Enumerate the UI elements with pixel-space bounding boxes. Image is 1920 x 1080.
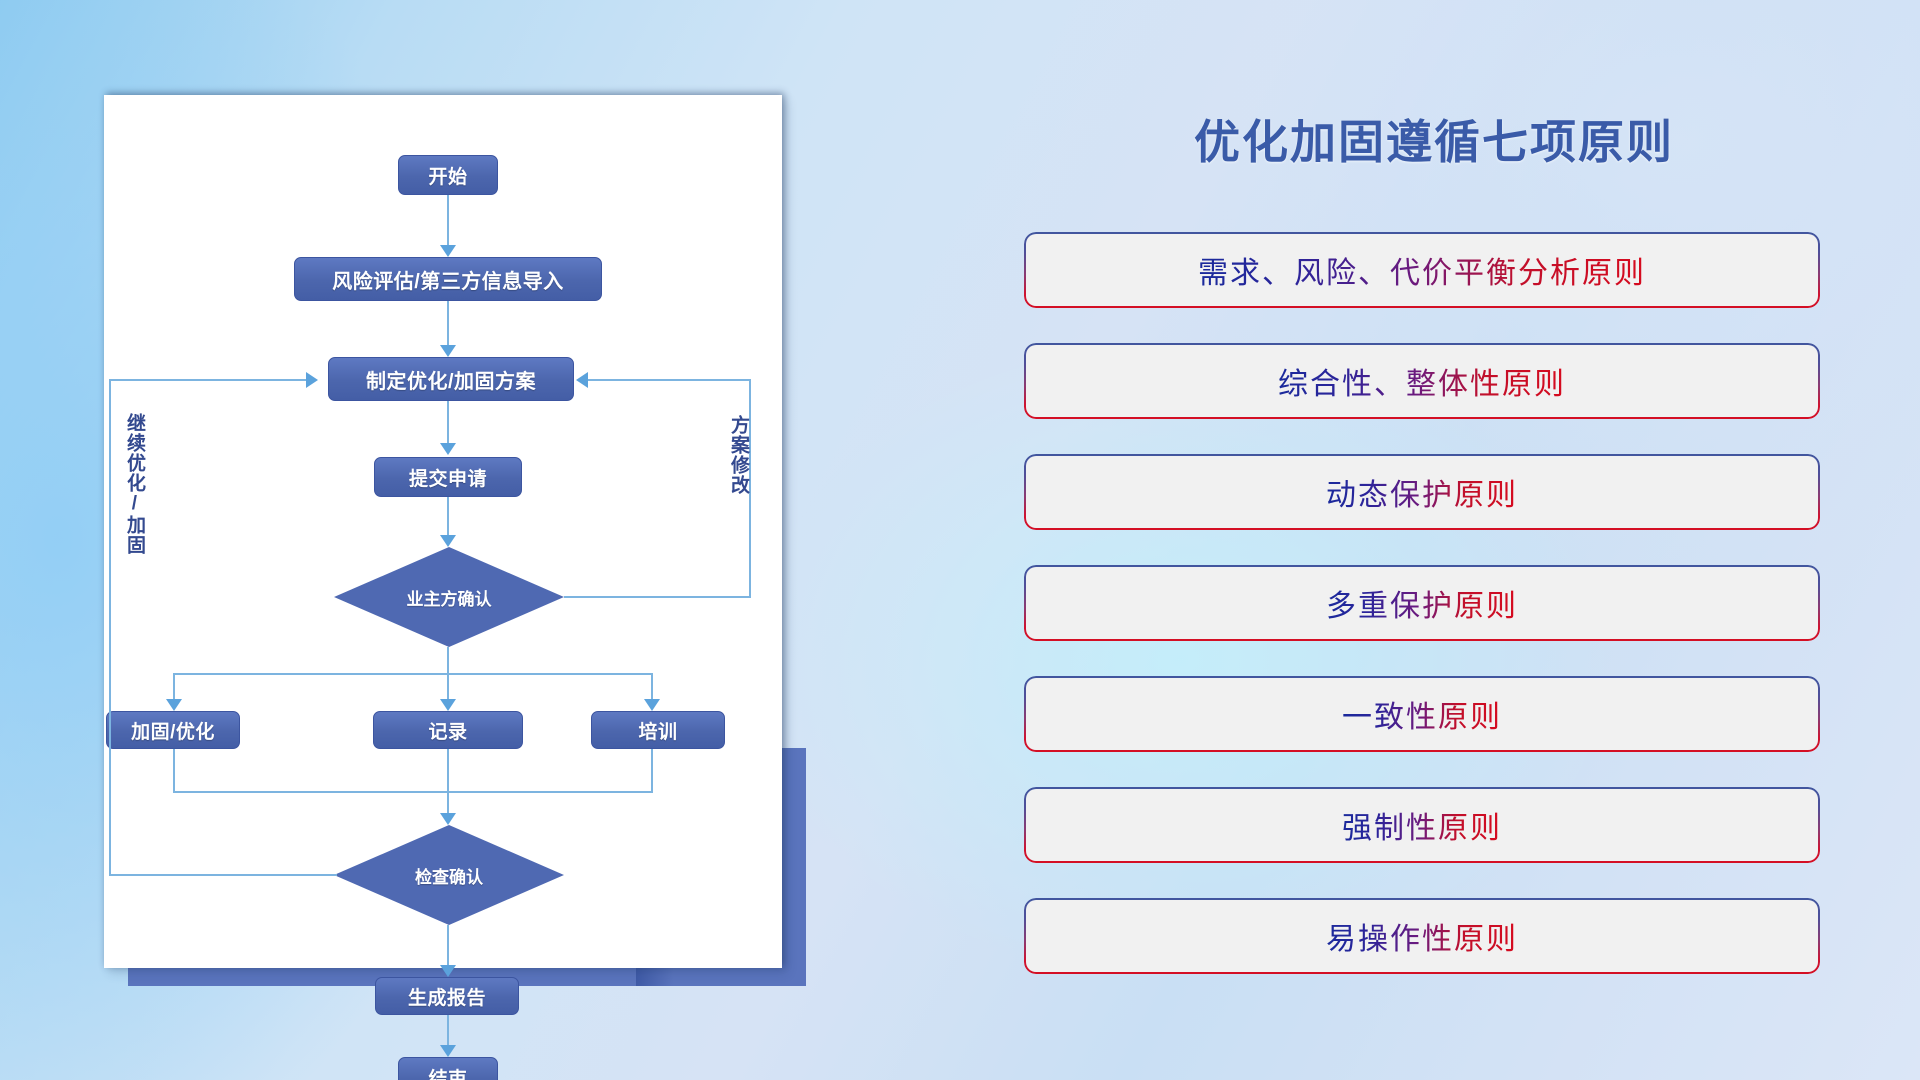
connector-merge-bar [173,791,653,793]
principles-list: 需求、风险、代价平衡分析原则 综合性、整体性原则 动态保护原则 多重保护原则 一… [1024,232,1820,1009]
flow-decision-owner-confirm[interactable]: 业主方确认 [334,547,564,647]
arrowhead-submit-to-confirm [440,535,456,547]
arrowhead-check-to-report [440,965,456,977]
flow-node-training[interactable]: 培训 [591,711,725,749]
principle-card[interactable]: 多重保护原则 [1024,565,1820,641]
arrowhead-branch-right [644,699,660,711]
connector-left-loop-bottom [109,874,337,876]
principle-label: 综合性、整体性原则 [1278,359,1566,403]
connector-risk-to-plan [447,301,449,351]
page-title: 优化加固遵循七项原则 [1024,106,1844,172]
slide-canvas: 开始 风险评估/第三方信息导入 制定优化/加固方案 提交申请 业主方确认 [0,0,1920,1080]
connector-branch-bar [173,673,652,675]
principle-label: 需求、风险、代价平衡分析原则 [1198,248,1646,292]
arrowhead-risk-to-plan [440,345,456,357]
connector-merge-left [173,749,175,793]
principle-label: 多重保护原则 [1326,581,1518,625]
principle-label: 动态保护原则 [1326,470,1518,514]
flow-node-make-plan[interactable]: 制定优化/加固方案 [328,357,574,401]
flow-node-generate-report-label: 生成报告 [408,983,486,1010]
arrowhead-left-loop [306,372,318,388]
connector-merge-right [651,749,653,793]
principle-card[interactable]: 易操作性原则 [1024,898,1820,974]
flow-node-end[interactable]: 结束 [398,1057,498,1080]
arrowhead-merge-down [440,813,456,825]
flow-node-risk-assessment[interactable]: 风险评估/第三方信息导入 [294,257,602,301]
principle-card[interactable]: 综合性、整体性原则 [1024,343,1820,419]
flow-node-start[interactable]: 开始 [398,155,498,195]
connector-start-to-risk [447,195,449,249]
connector-right-loop-bottom [588,379,751,381]
flow-node-record[interactable]: 记录 [373,711,523,749]
principle-card[interactable]: 一致性原则 [1024,676,1820,752]
flow-node-submit-application-label: 提交申请 [409,464,487,491]
arrowhead-report-to-end [440,1045,456,1057]
connector-merge-down [447,749,449,819]
connector-left-loop-side [109,379,111,876]
connector-plan-to-submit [447,401,449,449]
flow-node-end-label: 结束 [428,1064,467,1080]
edge-label-plan-revision: 方案修改 [728,415,748,495]
arrowhead-right-loop [576,372,588,388]
flow-decision-check-confirm[interactable]: 检查确认 [334,825,564,925]
flow-decision-owner-confirm-label: 业主方确认 [407,585,492,610]
edge-label-continue-optimize: 继续优化/加固 [124,413,144,555]
principle-card[interactable]: 需求、风险、代价平衡分析原则 [1024,232,1820,308]
connector-right-loop-side [749,379,751,597]
arrowhead-start-to-risk [440,245,456,257]
arrowhead-branch-left [166,699,182,711]
flow-node-make-plan-label: 制定优化/加固方案 [366,365,536,394]
flow-node-submit-application[interactable]: 提交申请 [374,457,522,497]
arrowhead-plan-to-submit [440,443,456,455]
flow-node-training-label: 培训 [638,717,677,744]
flow-node-reinforce-optimize-label: 加固/优化 [131,717,215,744]
flow-node-record-label: 记录 [428,717,467,744]
connector-confirm-down [447,647,449,675]
flow-node-risk-assessment-label: 风险评估/第三方信息导入 [332,265,564,294]
principle-card[interactable]: 动态保护原则 [1024,454,1820,530]
principle-label: 强制性原则 [1342,803,1502,847]
arrowhead-branch-mid [440,699,456,711]
flow-node-start-label: 开始 [428,162,467,189]
connector-right-loop-top [564,596,751,598]
principle-card[interactable]: 强制性原则 [1024,787,1820,863]
flow-node-reinforce-optimize[interactable]: 加固/优化 [106,711,240,749]
flow-decision-check-confirm-label: 检查确认 [415,863,483,888]
principle-label: 易操作性原则 [1326,914,1518,958]
principle-label: 一致性原则 [1342,692,1502,736]
connector-left-loop-top [109,379,308,381]
flowchart-panel: 开始 风险评估/第三方信息导入 制定优化/加固方案 提交申请 业主方确认 [104,95,782,968]
flow-node-generate-report[interactable]: 生成报告 [375,977,519,1015]
